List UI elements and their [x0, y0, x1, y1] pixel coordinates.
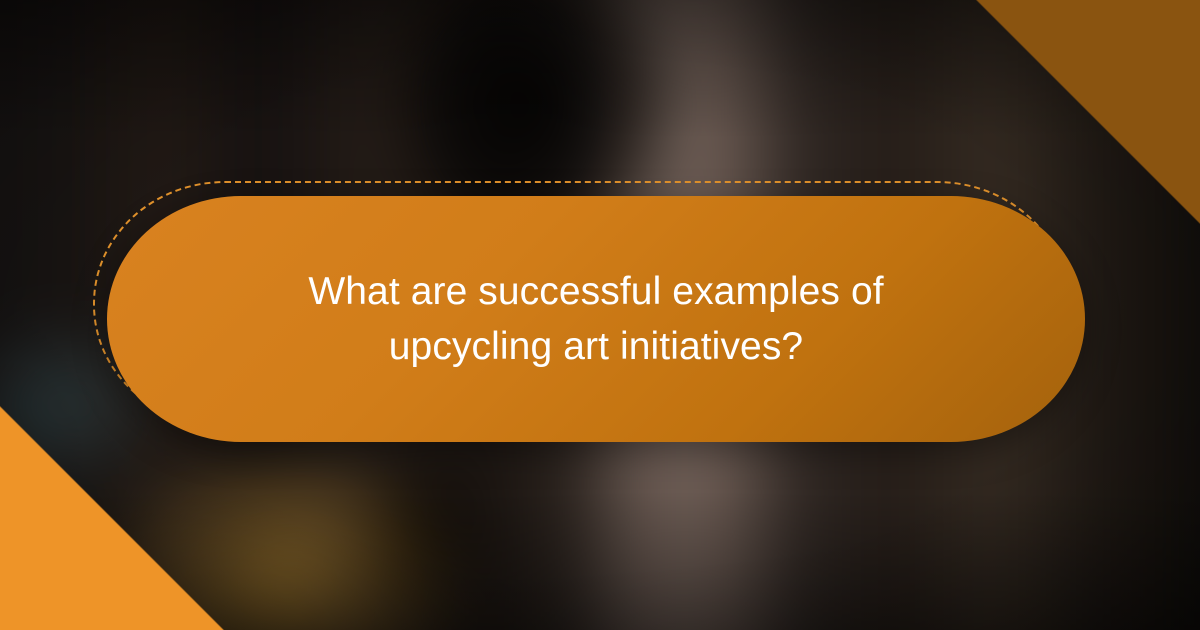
corner-wedge-top-right [968, 0, 1200, 232]
question-card[interactable]: What are successful examples of upcyclin… [107, 196, 1085, 442]
question-text: What are successful examples of upcyclin… [188, 264, 1004, 375]
social-card-canvas: What are successful examples of upcyclin… [0, 0, 1200, 630]
